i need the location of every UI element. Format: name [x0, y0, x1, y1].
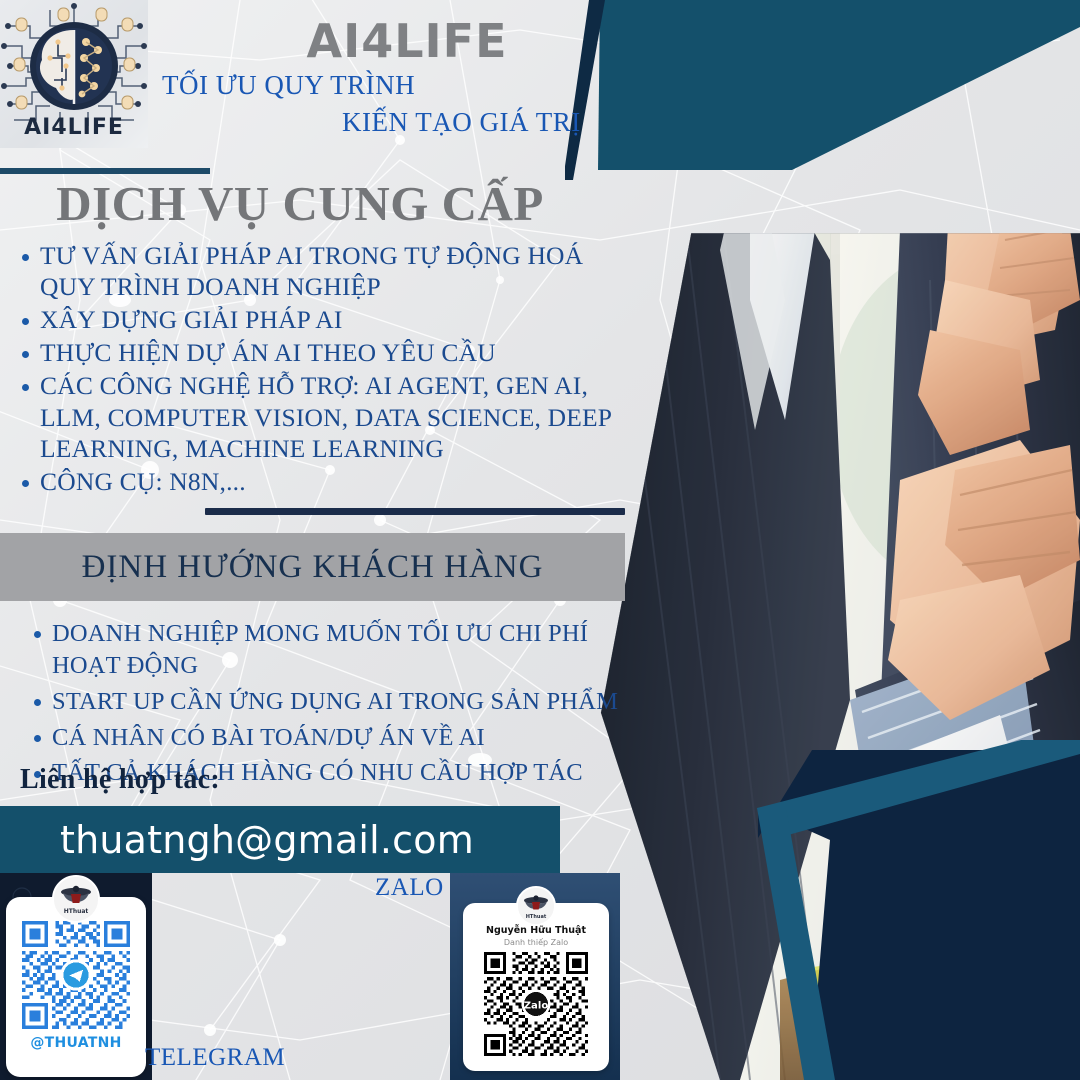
list-item: XÂY DỰNG GIẢI PHÁP AI: [40, 304, 615, 335]
corner-deco-shapes: [700, 740, 1080, 1080]
email-banner[interactable]: thuatngh@gmail.com: [0, 806, 560, 873]
zalo-card-subtitle: Danh thiếp Zalo: [504, 938, 568, 947]
zalo-qr-code[interactable]: Zalo: [484, 952, 588, 1056]
list-item: CÁ NHÂN CÓ BÀI TOÁN/DỰ ÁN VỀ AI: [52, 722, 632, 754]
poster-canvas: AI4LIFE AI4LIFE TỐI ƯU QUY TRÌNH KIẾN TẠ…: [0, 0, 1080, 1080]
zalo-contact-name: Nguyễn Hữu Thuật: [486, 925, 586, 936]
list-item: THỰC HIỆN DỰ ÁN AI THEO YÊU CẦU: [40, 337, 615, 368]
email-address[interactable]: thuatngh@gmail.com: [0, 818, 474, 862]
list-item: CÁC CÔNG NGHỆ HỖ TRỢ: AI AGENT, GEN AI, …: [40, 370, 615, 463]
telegram-qr-card[interactable]: HThuat: [6, 897, 146, 1077]
brand-tagline-1: TỐI ƯU QUY TRÌNH: [150, 70, 620, 101]
telegram-handle: @THUATNH: [30, 1035, 121, 1051]
zalo-qr-card[interactable]: HThuat Nguyễn Hữu Thuật Danh thiếp Zalo: [463, 903, 609, 1071]
list-item: START UP CẦN ỨNG DỤNG AI TRONG SẢN PHẨM: [52, 686, 632, 718]
contact-label: Liên hệ hợp tác:: [20, 764, 220, 796]
svg-text:HThuat: HThuat: [64, 908, 89, 915]
telegram-label: TELEGRAM: [145, 1044, 285, 1072]
brand-title: AI4LIFE: [150, 18, 620, 64]
telegram-qr-code[interactable]: [22, 921, 130, 1029]
profile-avatar-badge: HThuat: [516, 886, 556, 926]
zalo-label: ZALO: [375, 874, 444, 902]
services-top-rule: [0, 168, 210, 174]
section-divider-rule: [205, 508, 625, 515]
brand-block: AI4LIFE TỐI ƯU QUY TRÌNH KIẾN TẠO GIÁ TR…: [150, 18, 620, 138]
list-item: CÔNG CỤ: N8N,...: [40, 466, 615, 497]
svg-text:AI4LIFE: AI4LIFE: [24, 115, 124, 140]
svg-text:Zalo: Zalo: [524, 1000, 549, 1011]
customers-banner: ĐỊNH HƯỚNG KHÁCH HÀNG: [0, 533, 625, 601]
services-heading: DỊCH VỤ CUNG CẤP: [0, 175, 600, 232]
customers-heading: ĐỊNH HƯỚNG KHÁCH HÀNG: [82, 549, 544, 586]
list-item: DOANH NGHIỆP MONG MUỐN TỐI ƯU CHI PHÍ HO…: [52, 618, 632, 682]
ai4life-logo: AI4LIFE: [0, 0, 148, 148]
services-list: TƯ VẤN GIẢI PHÁP AI TRONG TỰ ĐỘNG HOÁ QU…: [10, 240, 615, 499]
profile-avatar-badge: HThuat: [52, 875, 100, 923]
svg-text:HThuat: HThuat: [526, 914, 547, 920]
list-item: TƯ VẤN GIẢI PHÁP AI TRONG TỰ ĐỘNG HOÁ QU…: [40, 240, 615, 302]
brand-tagline-2: KIẾN TẠO GIÁ TRỊ: [150, 107, 620, 138]
